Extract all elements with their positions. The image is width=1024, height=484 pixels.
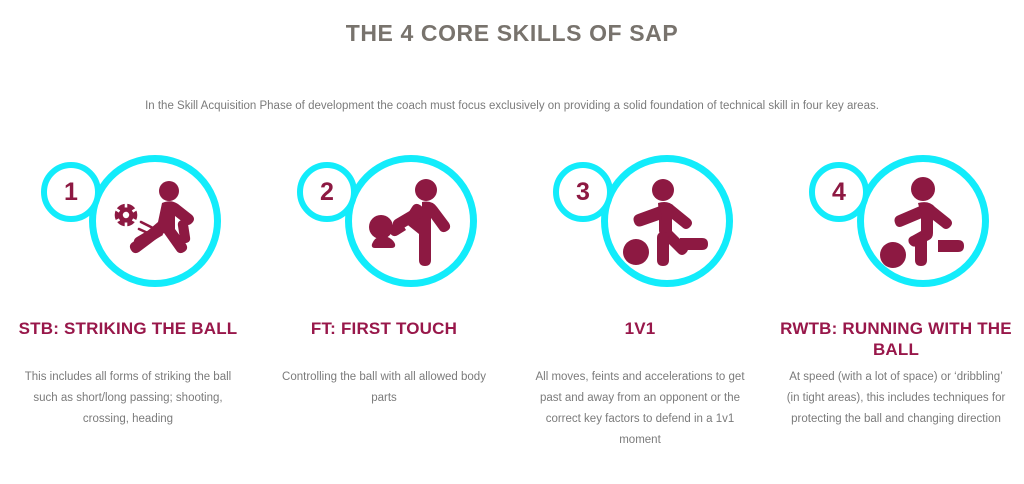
skill-heading-3: 1V1 <box>524 318 756 339</box>
skill-icon-group-4: 4 <box>801 150 991 290</box>
skill-card-4: 4 RWTB: RUNNING WITH THE BALL At speed (… <box>768 150 1024 430</box>
player-striking-ball-icon <box>96 162 214 280</box>
skill-heading-4: RWTB: RUNNING WITH THE BALL <box>780 318 1012 360</box>
skill-icon-group-3: 3 <box>545 150 735 290</box>
page-title: THE 4 CORE SKILLS OF SAP <box>0 20 1024 47</box>
skill-card-2: 2 FT: FIRST TOUCH Controlling the ball w… <box>256 150 512 409</box>
skill-number-badge-4: 4 <box>809 162 869 222</box>
skill-number-4: 4 <box>832 180 846 205</box>
player-running-with-ball-icon <box>864 162 982 280</box>
skill-heading-2: FT: FIRST TOUCH <box>268 318 500 339</box>
skill-description-1: This includes all forms of striking the … <box>14 367 242 430</box>
intro-paragraph: In the Skill Acquisition Phase of develo… <box>0 98 1024 115</box>
skill-number-2: 2 <box>320 180 334 205</box>
infographic-page: THE 4 CORE SKILLS OF SAP In the Skill Ac… <box>0 0 1024 484</box>
skill-number-badge-3: 3 <box>553 162 613 222</box>
skill-description-4: At speed (with a lot of space) or ‘dribb… <box>782 367 1010 430</box>
skill-circle-2 <box>345 155 477 287</box>
skill-card-1: 1 STB: STRIKING THE BALL This includes a… <box>0 150 256 430</box>
skill-circle-4 <box>857 155 989 287</box>
skill-number-badge-1: 1 <box>41 162 101 222</box>
skill-heading-1: STB: STRIKING THE BALL <box>12 318 244 339</box>
skills-columns: 1 STB: STRIKING THE BALL This includes a… <box>0 150 1024 451</box>
skill-circle-1 <box>89 155 221 287</box>
skill-number-1: 1 <box>64 180 78 205</box>
skill-number-badge-2: 2 <box>297 162 357 222</box>
skill-circle-3 <box>601 155 733 287</box>
player-first-touch-icon <box>352 162 470 280</box>
skill-description-3: All moves, feints and accelerations to g… <box>526 367 754 451</box>
skill-icon-group-1: 1 <box>33 150 223 290</box>
skill-description-2: Controlling the ball with all allowed bo… <box>270 367 498 409</box>
skill-number-3: 3 <box>576 180 590 205</box>
skill-card-3: 3 1V1 All moves, feints and acceleration… <box>512 150 768 451</box>
skill-icon-group-2: 2 <box>289 150 479 290</box>
player-one-v-one-icon <box>608 162 726 280</box>
